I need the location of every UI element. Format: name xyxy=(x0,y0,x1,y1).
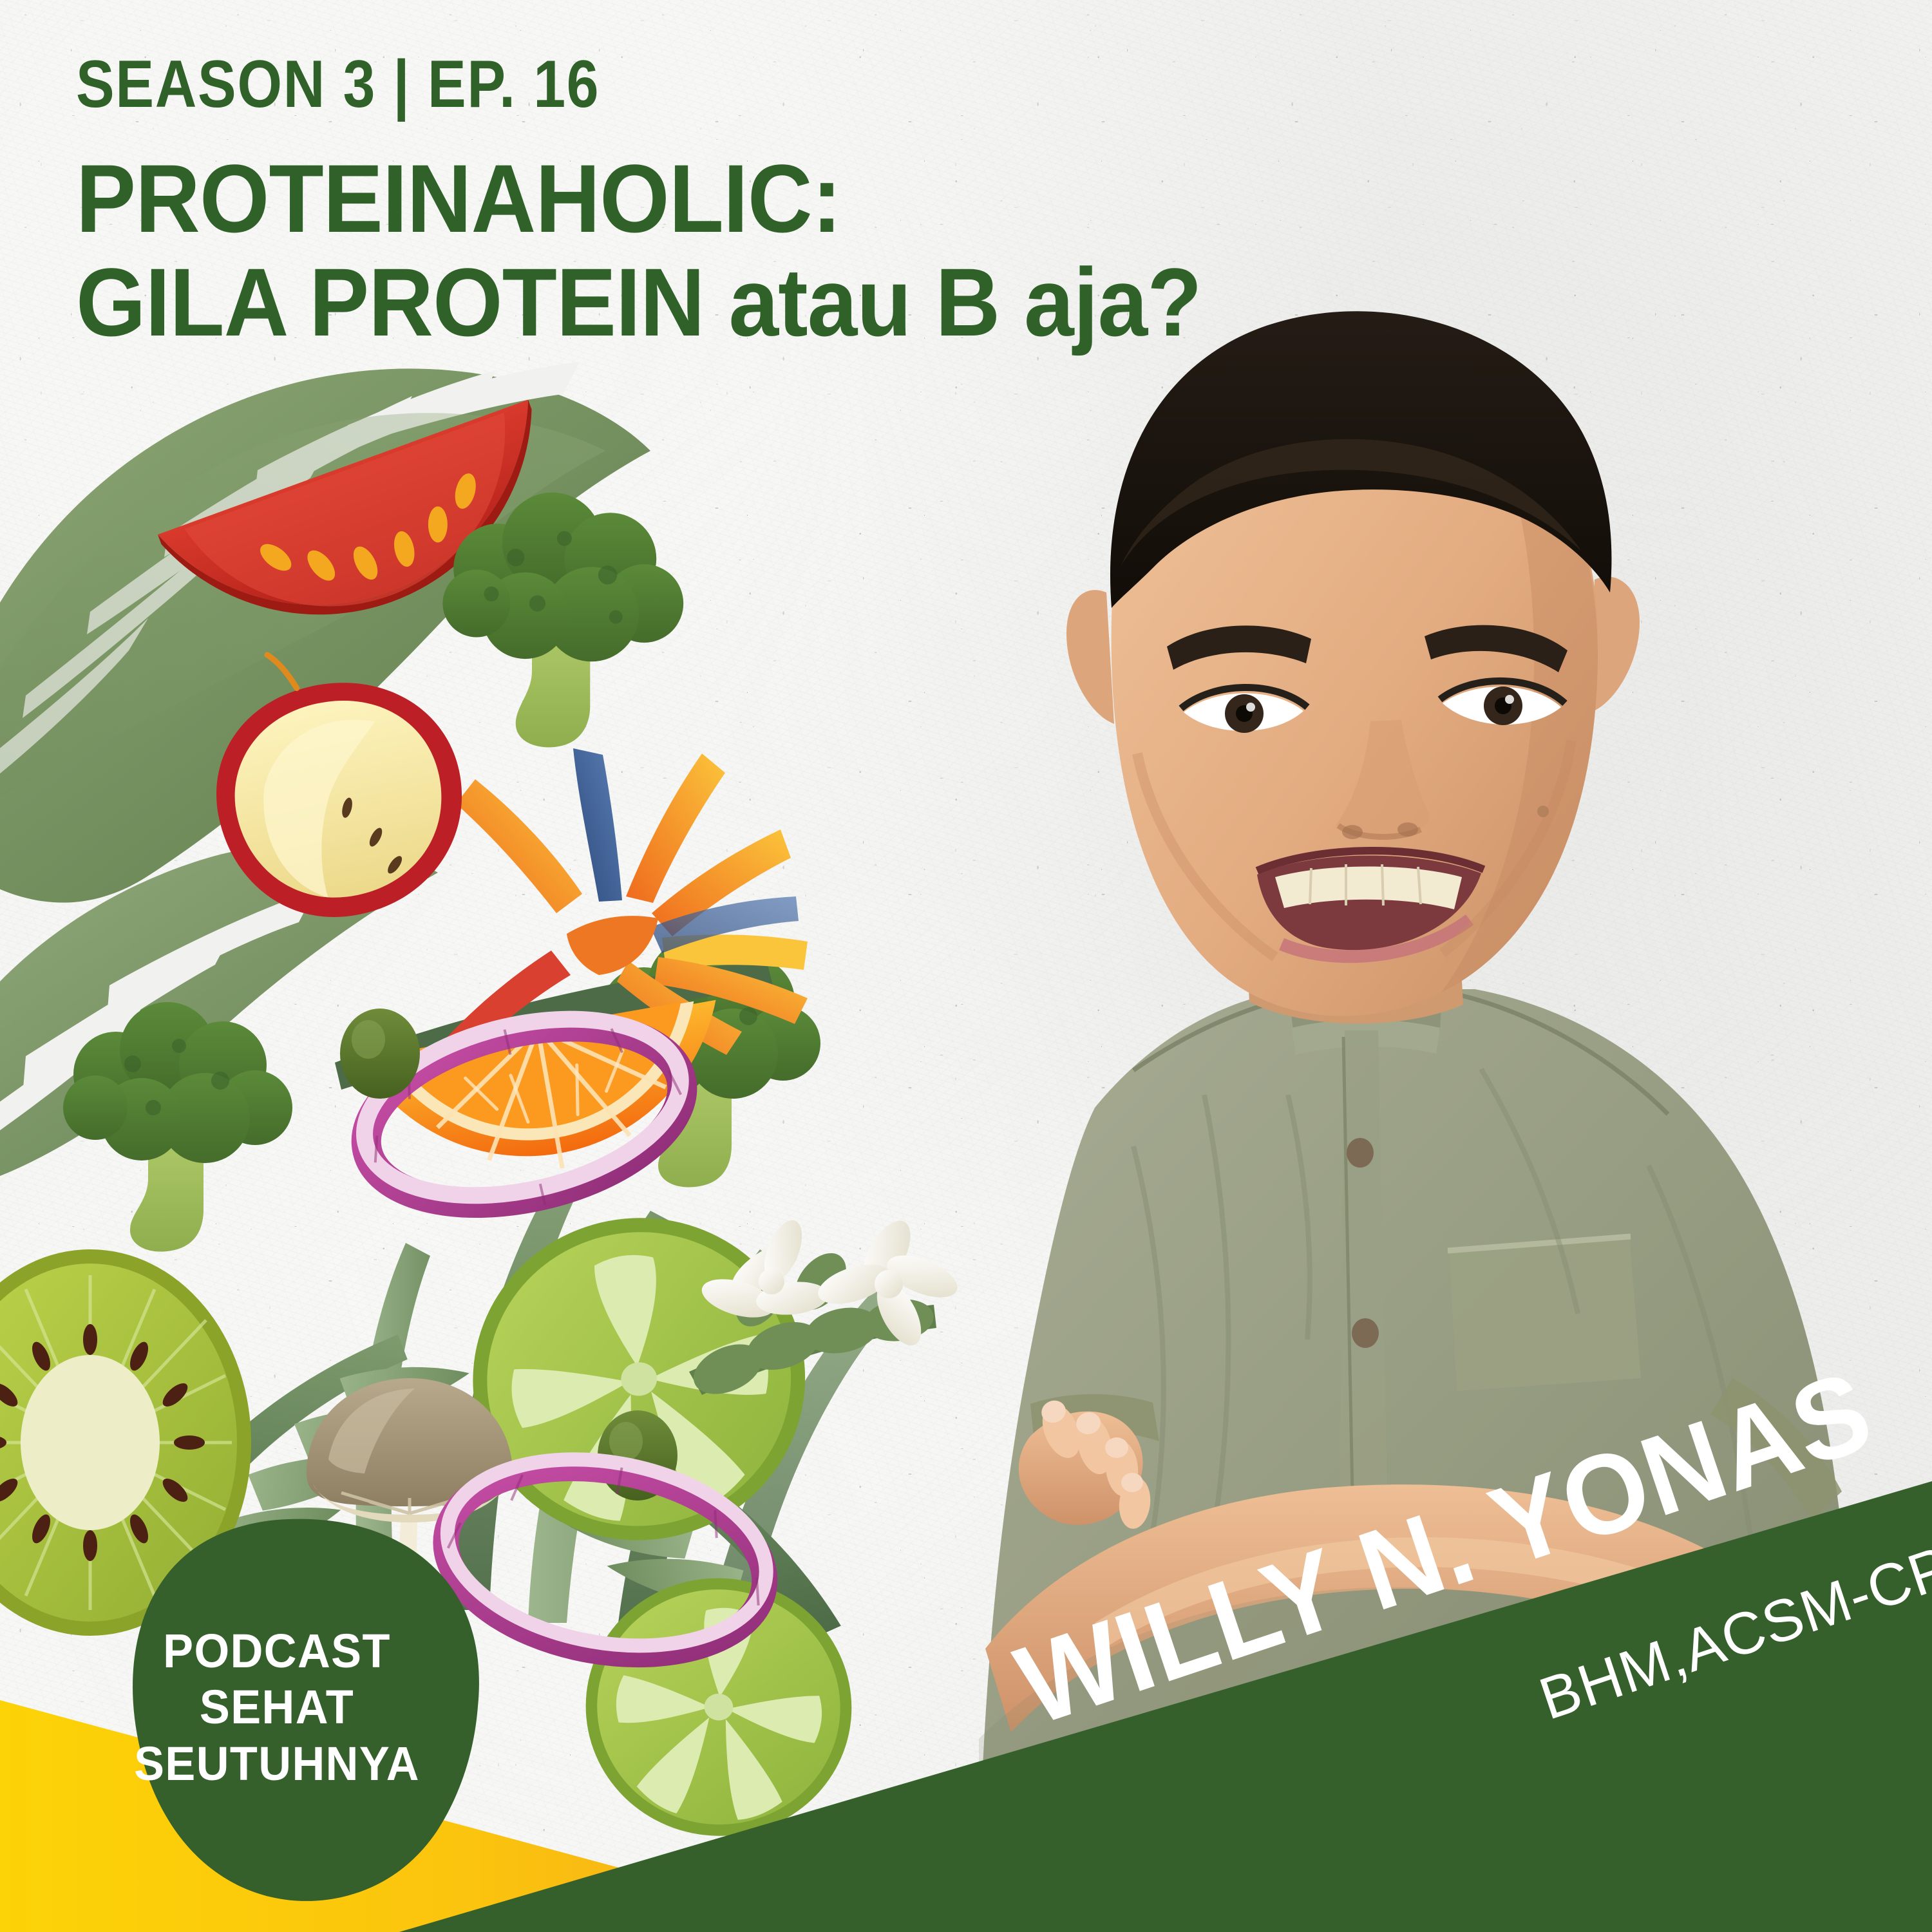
podcast-cover: PODCAST SEHAT SEUTUHNYA SEASON 3 | EP. 1… xyxy=(0,0,1932,1932)
headline-block: SEASON 3 | EP. 16 PROTEINAHOLIC: GILA PR… xyxy=(76,50,1428,354)
badge-line-1: PODCAST xyxy=(88,1623,467,1679)
podcast-badge-text: PODCAST SEHAT SEUTUHNYA xyxy=(88,1623,467,1792)
season-episode-label: SEASON 3 | EP. 16 xyxy=(76,50,1239,118)
title-line-1: PROTEINAHOLIC: xyxy=(76,144,841,252)
badge-line-2: SEHAT xyxy=(88,1679,467,1735)
podcast-badge[interactable]: PODCAST SEHAT SEUTUHNYA xyxy=(77,1526,477,1913)
page-title: PROTEINAHOLIC: GILA PROTEIN atau B aja? xyxy=(76,147,1334,354)
title-line-2: GILA PROTEIN atau B aja? xyxy=(76,251,1334,354)
badge-line-3: SEUTUHNYA xyxy=(88,1736,467,1792)
